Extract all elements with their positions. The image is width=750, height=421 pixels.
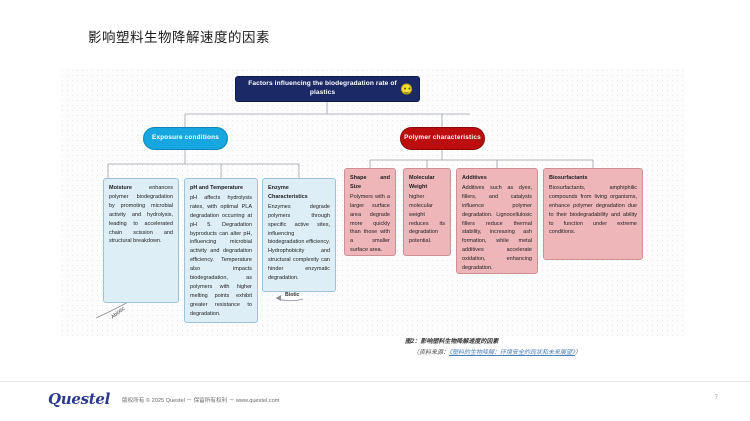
footer-divider bbox=[0, 381, 750, 382]
card-heading-ph-temperature: pH and Temperature bbox=[190, 184, 252, 193]
branch-node-polymer-characteristics[interactable]: Polymer characteristics bbox=[400, 127, 485, 150]
card-heading-molecular-weight: Molecular Weight bbox=[409, 174, 445, 192]
card-body-enzyme: Enzymes degrade polymers through specifi… bbox=[268, 204, 330, 281]
card-ph-temperature[interactable]: pH and Temperature pH affects hydrolysis… bbox=[184, 178, 258, 323]
card-additives[interactable]: Additives Additives such as dyes, filler… bbox=[456, 168, 538, 274]
card-enzyme-characteristics[interactable]: Enzyme Characteristics Enzymes degrade p… bbox=[262, 178, 336, 292]
questel-logo: Questel bbox=[48, 390, 110, 408]
caption-source: （资料来源：《塑料的生物降解：环境安全的现状和未来展望》） bbox=[405, 348, 705, 359]
page-number: 7 bbox=[715, 395, 718, 401]
root-node[interactable]: Factors influencing the biodegradation r… bbox=[235, 76, 420, 102]
card-body-molecular-weight: higher molecular weight reduces its degr… bbox=[409, 194, 445, 245]
slide: 影响塑料生物降解速度的因素 bbox=[0, 0, 750, 421]
card-body-moisture: enhances polymer biodegradation by promo… bbox=[109, 185, 173, 244]
card-body-shape: Polymers with a larger surface area degr… bbox=[350, 194, 390, 253]
root-node-label: Factors influencing the biodegradation r… bbox=[242, 80, 403, 98]
caption-source-suffix: ） bbox=[575, 350, 581, 356]
card-heading-shape: Shape and Size bbox=[350, 174, 390, 192]
edge-label-biotic: Biotic bbox=[285, 292, 299, 298]
branch-label-polymer: Polymer characteristics bbox=[404, 134, 481, 142]
card-moisture[interactable]: Moisture enhances polymer biodegradation… bbox=[103, 178, 179, 303]
card-shape-and-size[interactable]: Shape and Size Polymers with a larger su… bbox=[344, 168, 396, 256]
figure-caption: 图2：影响塑料生物降解速度的因素 （资料来源：《塑料的生物降解：环境安全的现状和… bbox=[405, 337, 705, 358]
mindmap-diagram: Factors influencing the biodegradation r… bbox=[60, 68, 685, 336]
card-body-biosurfactants: Biosurfactants, amphiphilic compounds fr… bbox=[549, 185, 637, 236]
branch-node-exposure-conditions[interactable]: Exposure conditions bbox=[143, 127, 228, 150]
smiley-face-icon bbox=[401, 84, 412, 95]
caption-title: 图2：影响塑料生物降解速度的因素 bbox=[405, 339, 498, 345]
card-heading-additives: Additives bbox=[462, 174, 532, 183]
edge-label-abiotic: Abiotic bbox=[110, 306, 126, 320]
page-title: 影响塑料生物降解速度的因素 bbox=[88, 26, 270, 46]
card-heading-moisture: Moisture bbox=[109, 185, 132, 191]
caption-source-link[interactable]: 《塑料的生物降解：环境安全的现状和未来展望》 bbox=[449, 350, 575, 356]
card-body-ph-temperature: pH affects hydrolysis rates, with optima… bbox=[190, 195, 252, 317]
card-heading-biosurfactants: Biosurfactants bbox=[549, 174, 637, 183]
card-heading-enzyme: Enzyme Characteristics bbox=[268, 184, 330, 202]
caption-source-prefix: （资料来源： bbox=[413, 350, 449, 356]
branch-label-exposure: Exposure conditions bbox=[152, 134, 219, 142]
copyright-text: 版权所有 © 2025 Questel － 保留所有权利 － www.quest… bbox=[122, 396, 279, 404]
card-biosurfactants[interactable]: Biosurfactants Biosurfactants, amphiphil… bbox=[543, 168, 643, 260]
card-molecular-weight[interactable]: Molecular Weight higher molecular weight… bbox=[403, 168, 451, 256]
card-body-additives: Additives such as dyes, fillers, and cat… bbox=[462, 185, 532, 271]
